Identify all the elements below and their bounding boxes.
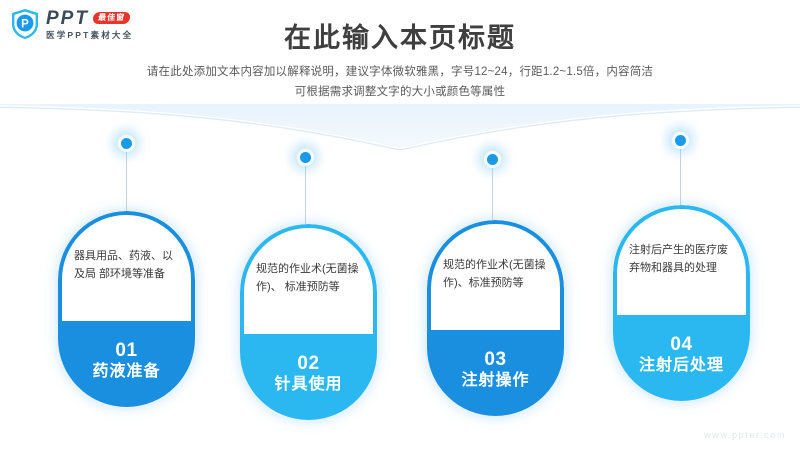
connector-line-3 [492, 166, 493, 220]
step-number: 04 [670, 333, 692, 357]
step-card-4[interactable]: 注射后产生的医疗废弃物和器具的处理 04 注射后处理 [613, 205, 750, 401]
step-card-3-top: 规范的作业术(无菌操作)、标准预防等 [427, 220, 564, 330]
connector-line-4 [680, 147, 681, 205]
step-description: 器具用品、药液、以及局 部环境等准备 [58, 248, 195, 284]
step-card-1-top: 器具用品、药液、以及局 部环境等准备 [58, 211, 195, 321]
step-card-2-bottom: 02 针具使用 [240, 334, 377, 420]
step-number: 02 [297, 352, 319, 376]
step-card-2[interactable]: 规范的作业术(无菌操作)、 标准预防等 02 针具使用 [240, 224, 377, 420]
step-card-2-top: 规范的作业术(无菌操作)、 标准预防等 [240, 224, 377, 334]
step-card-3[interactable]: 规范的作业术(无菌操作)、标准预防等 03 注射操作 [427, 220, 564, 416]
connector-line-1 [126, 150, 127, 212]
site-watermark: www.ppter.com [704, 430, 786, 440]
timeline-dot-2[interactable] [294, 146, 316, 168]
step-number: 03 [484, 348, 506, 372]
step-description: 规范的作业术(无菌操作)、 标准预防等 [240, 261, 377, 297]
timeline-dot-3[interactable] [481, 148, 503, 170]
step-label: 注射后处理 [639, 356, 724, 377]
step-label: 药液准备 [92, 362, 160, 383]
subtitle-line-2: 可根据需求调整文字的大小或颜色等属性 [0, 82, 800, 102]
connector-line-2 [305, 164, 306, 224]
timeline-dot-4[interactable] [669, 129, 691, 151]
step-card-1[interactable]: 器具用品、药液、以及局 部环境等准备 01 药液准备 [58, 211, 195, 407]
step-number: 01 [115, 339, 137, 363]
step-label: 注射操作 [461, 371, 529, 392]
step-card-1-bottom: 01 药液准备 [58, 321, 195, 407]
subtitle-line-1: 请在此处添加文本内容加以解释说明，建议字体微软雅黑，字号12~24，行距1.2~… [0, 62, 800, 82]
step-description: 规范的作业术(无菌操作)、标准预防等 [427, 257, 564, 293]
step-label: 针具使用 [274, 375, 342, 396]
page-subtitle: 请在此处添加文本内容加以解释说明，建议字体微软雅黑，字号12~24，行距1.2~… [0, 62, 800, 102]
slide-canvas: P PPT 最佳窗 医学PPT素材大全 在此输入本页标题 请在此处添加文本内容加… [0, 0, 800, 450]
step-card-4-top: 注射后产生的医疗废弃物和器具的处理 [613, 205, 750, 315]
page-title: 在此输入本页标题 [0, 16, 800, 55]
step-card-3-bottom: 03 注射操作 [427, 330, 564, 416]
step-description: 注射后产生的医疗废弃物和器具的处理 [613, 242, 750, 278]
step-card-4-bottom: 04 注射后处理 [613, 315, 750, 401]
timeline-dot-1[interactable] [115, 132, 137, 154]
